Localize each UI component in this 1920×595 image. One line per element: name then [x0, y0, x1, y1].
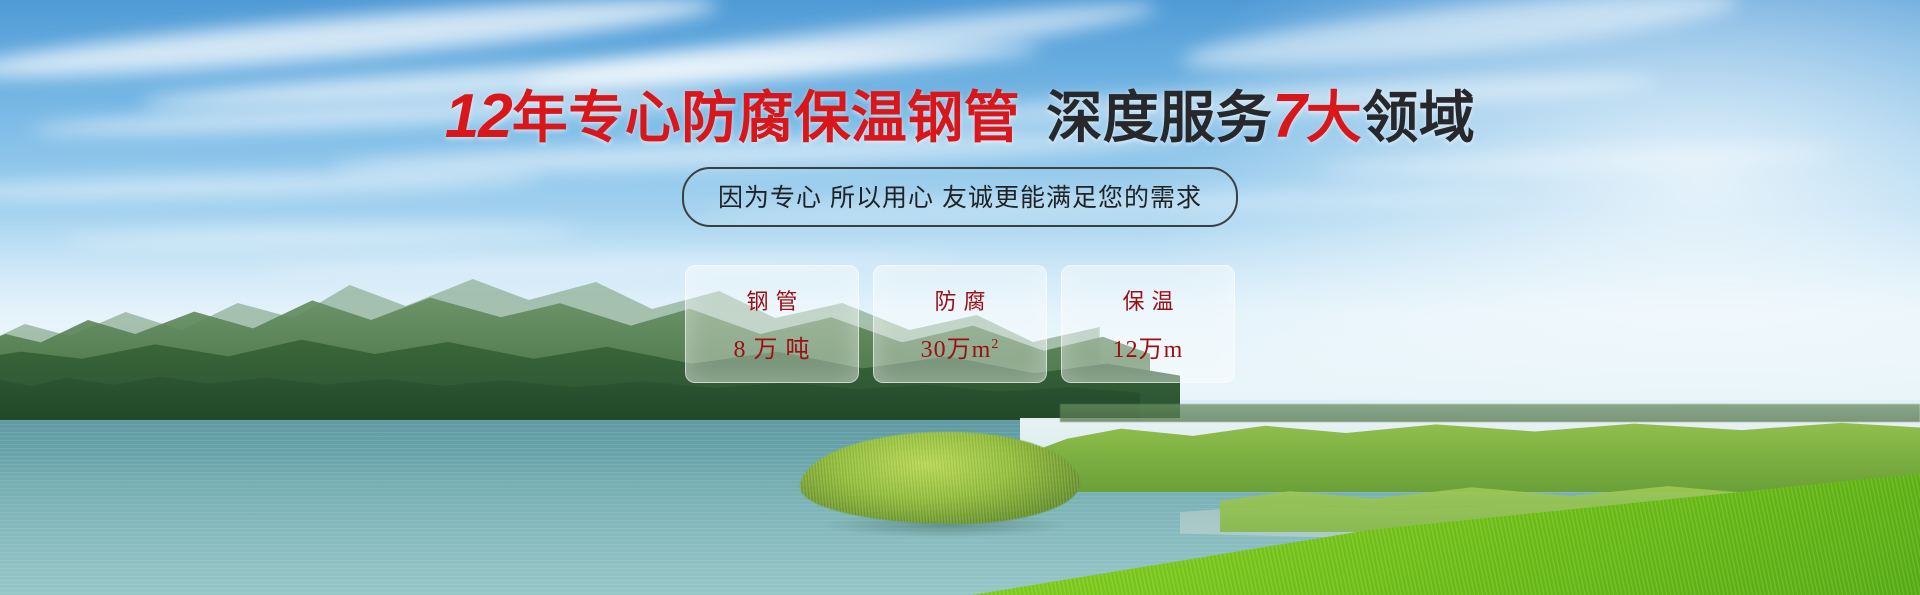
stat-card-label: 防腐 — [927, 284, 992, 316]
stat-card-value: 12万m — [1113, 329, 1184, 364]
stat-card-value-text: 12万m — [1113, 337, 1184, 363]
stat-card-label: 保温 — [1115, 284, 1180, 316]
headline-fields-measure: 大 — [1306, 86, 1363, 149]
headline-years-suffix: 年专心防腐保温钢管 — [512, 86, 1021, 149]
stat-card-group: 钢管 8 万 吨 防腐 30万m2 保温 12万m — [0, 265, 1920, 383]
stat-card-value-text: 30万m — [921, 337, 992, 363]
stat-card-insulation[interactable]: 保温 12万m — [1061, 265, 1235, 383]
stat-card-steel-pipe[interactable]: 钢管 8 万 吨 — [685, 265, 859, 383]
promo-banner: 12年专心防腐保温钢管深度服务7大领域 因为专心 所以用心 友诚更能满足您的需求… — [0, 0, 1920, 595]
stat-card-anticorrosion[interactable]: 防腐 30万m2 — [873, 265, 1047, 383]
stat-card-value: 8 万 吨 — [734, 329, 811, 364]
banner-subtitle-pill: 因为专心 所以用心 友诚更能满足您的需求 — [682, 167, 1238, 227]
banner-subtitle-wrapper: 因为专心 所以用心 友诚更能满足您的需求 — [0, 167, 1920, 227]
stat-card-value: 30万m2 — [921, 329, 1000, 364]
stat-card-label: 钢管 — [739, 284, 804, 316]
stat-card-value-exponent: 2 — [991, 337, 999, 352]
headline-fields-suffix: 领域 — [1362, 86, 1475, 149]
stat-card-value-text: 8 万 吨 — [734, 337, 811, 363]
headline-years-number: 12 — [445, 82, 512, 151]
headline-fields-number: 7 — [1272, 82, 1305, 151]
headline-service-text: 深度服务 — [1046, 86, 1272, 149]
banner-content: 12年专心防腐保温钢管深度服务7大领域 因为专心 所以用心 友诚更能满足您的需求… — [0, 0, 1920, 595]
banner-headline: 12年专心防腐保温钢管深度服务7大领域 — [0, 86, 1920, 148]
